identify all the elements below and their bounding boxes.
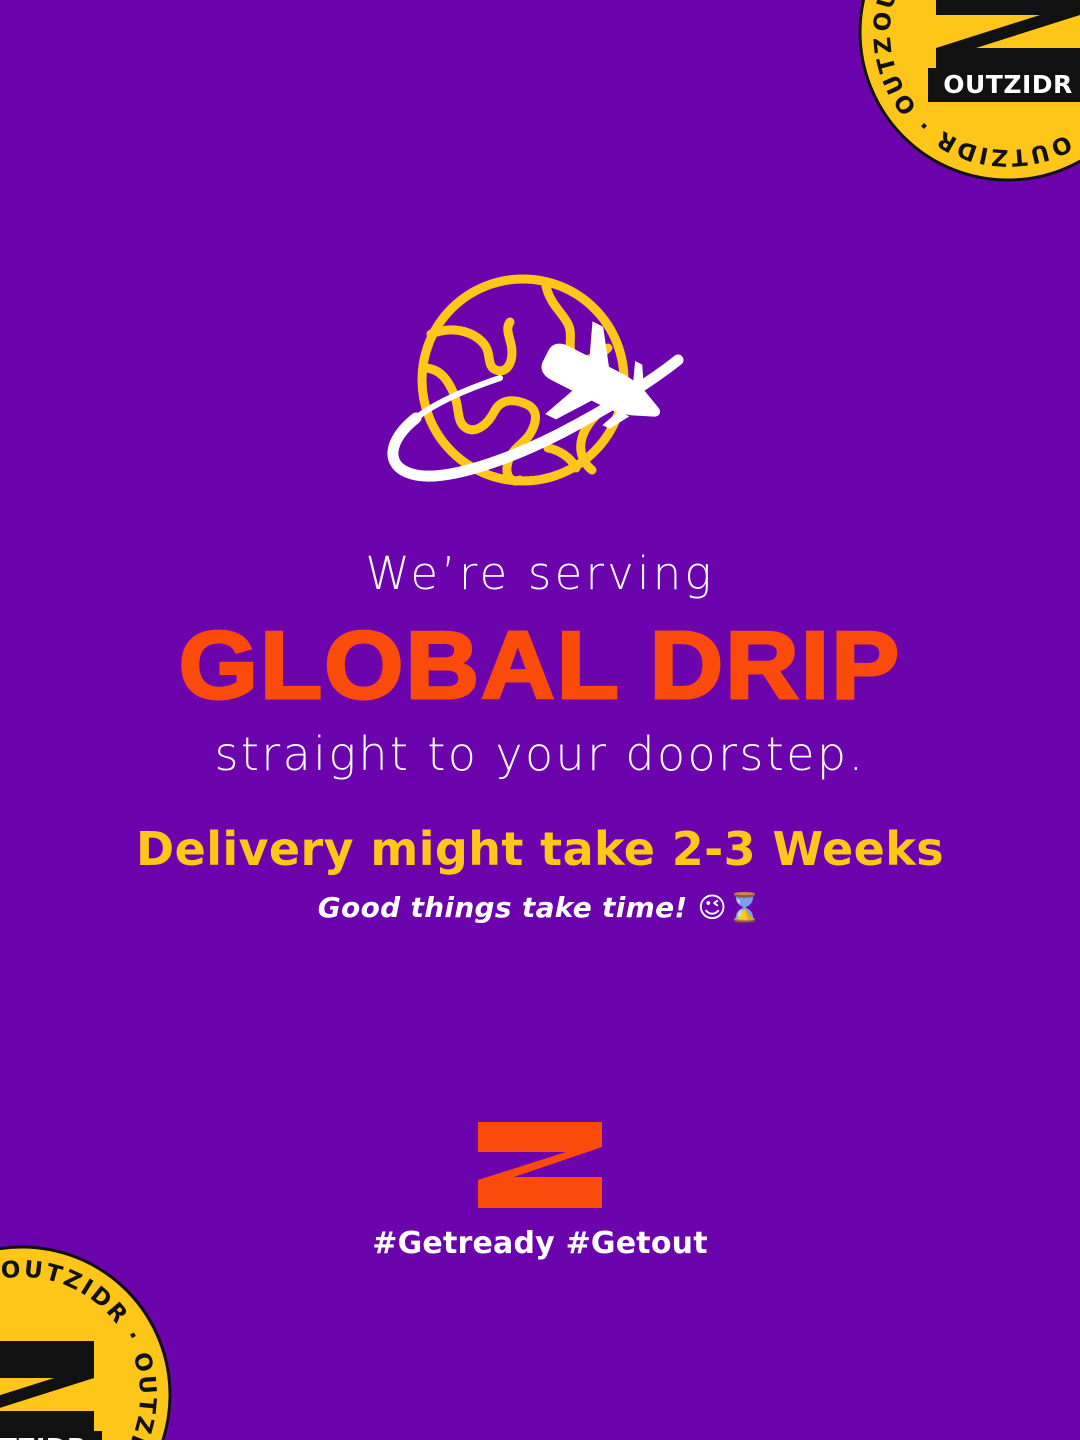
delivery-notice: Delivery might take 2-3 Weeks — [0, 822, 1080, 877]
globe-airplane-illustration — [360, 272, 720, 512]
hourglass-emoji-icon: ⌛ — [727, 891, 762, 924]
poster-canvas: OUTZIDR · OUTZIDR · OUTZIDR · OUTZIDR · … — [0, 0, 1080, 1440]
outzidr-z-logo-icon — [478, 1122, 602, 1208]
copy-line-serving: We’re serving — [0, 548, 1080, 600]
outzidr-badge-top-right: OUTZIDR · OUTZIDR · OUTZIDR · OUTZIDR · … — [858, 0, 1080, 182]
delivery-subnote: Good things take time! 😉⌛ — [0, 891, 1080, 925]
copy-line-doorstep: straight to your doorstep. — [0, 728, 1080, 781]
outzidr-badge-bottom-left: OUTZIDR · OUTZIDR · OUTZIDR · OUTZIDR · … — [0, 1245, 172, 1440]
svg-text:OUTZIDR: OUTZIDR — [0, 1433, 87, 1440]
delivery-notice-block: Delivery might take 2-3 Weeks Good thing… — [0, 822, 1080, 925]
badge-wordmark: OUTZIDR — [0, 1431, 102, 1440]
copy-headline: GLOBAL DRIP — [0, 618, 1080, 714]
badge-wordmark: OUTZIDR — [928, 68, 1080, 102]
footer-block: #Getready #Getout — [0, 1122, 1080, 1262]
svg-text:OUTZIDR: OUTZIDR — [943, 70, 1073, 99]
winking-face-emoji-icon: 😉 — [698, 891, 728, 924]
headline-block: We’re serving GLOBAL DRIP straight to yo… — [0, 548, 1080, 782]
delivery-subnote-text: Good things take time! — [318, 891, 688, 924]
